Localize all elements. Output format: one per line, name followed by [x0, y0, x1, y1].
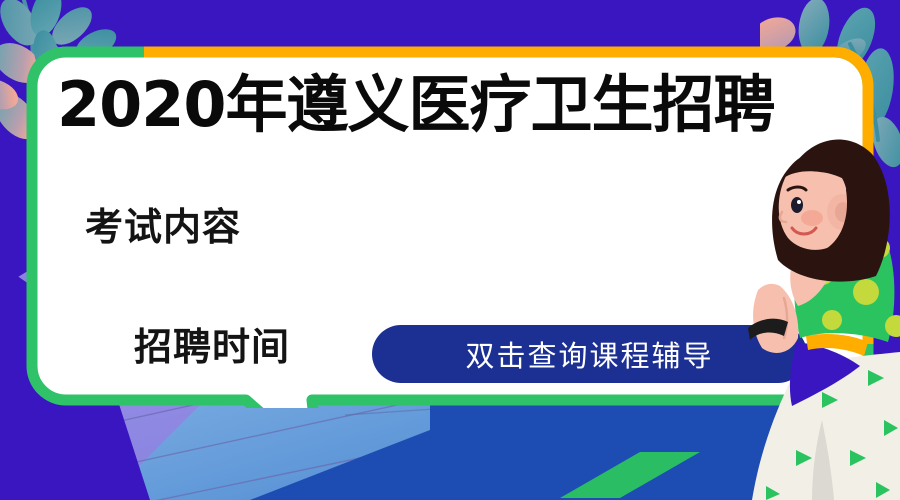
list-item-exam-content: 考试内容 [85, 208, 241, 246]
query-course-tutoring-button[interactable]: 双击查询课程辅导 [372, 325, 807, 383]
page-title: 2020年遵义医疗卫生招聘 [57, 74, 775, 136]
list-item-recruitment-time: 招聘时间 [134, 328, 290, 366]
promotional-poster: 2020年遵义医疗卫生招聘 考试内容 招聘时间 双击查询课程辅导 [0, 0, 900, 500]
query-course-tutoring-button-label: 双击查询课程辅导 [465, 333, 713, 375]
